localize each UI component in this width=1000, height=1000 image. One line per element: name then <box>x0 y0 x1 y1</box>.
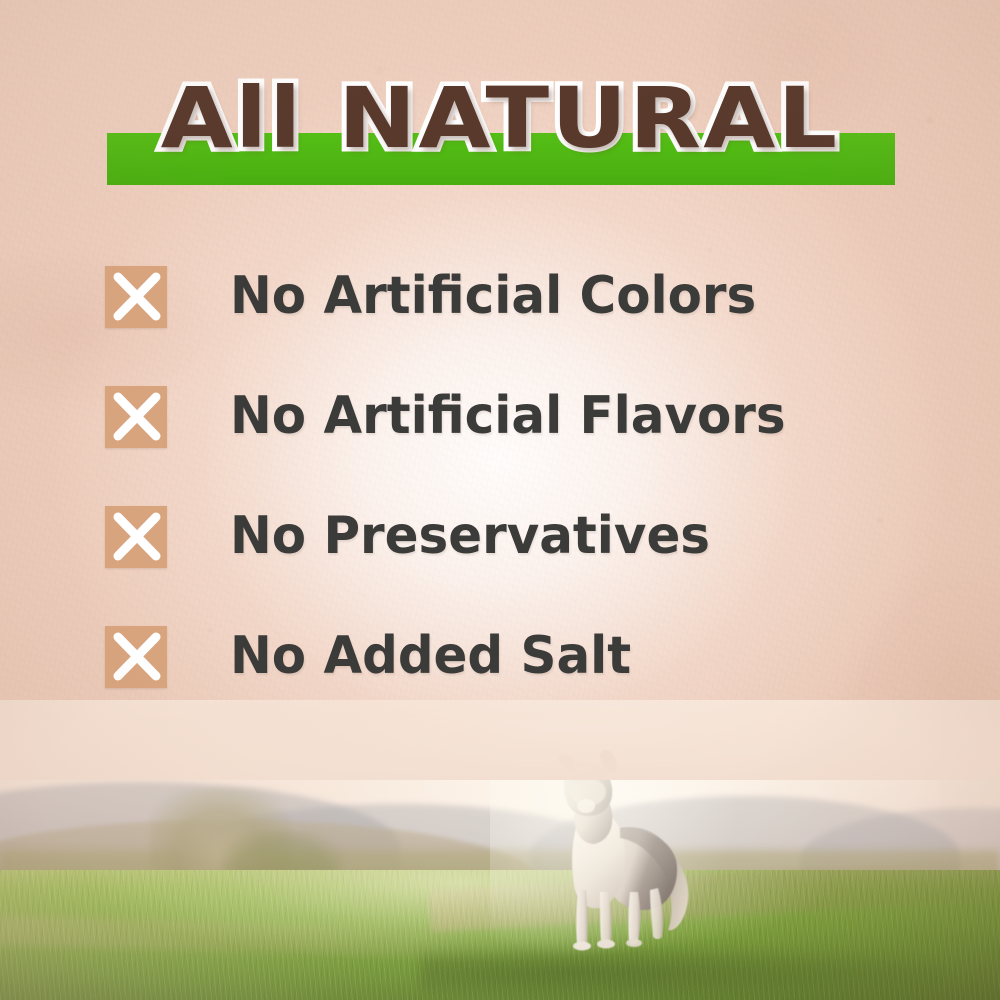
feature-label: No Artificial Flavors <box>230 376 786 456</box>
feature-label: No Preservatives <box>230 496 710 576</box>
list-item: No Artificial Flavors <box>105 382 965 502</box>
x-mark-icon <box>105 266 167 328</box>
hero-banner: All NATURAL <box>0 0 1000 230</box>
list-item: No Added Salt <box>105 622 965 742</box>
feature-label: No Artificial Colors <box>230 256 756 336</box>
x-mark-icon <box>105 386 167 448</box>
product-feature-panel: All NATURAL No Artificial Colors No Arti… <box>0 0 1000 1000</box>
list-item: No Preservatives <box>105 502 965 622</box>
feature-list: No Artificial Colors No Artificial Flavo… <box>105 262 965 742</box>
list-item: No Artificial Colors <box>105 262 965 382</box>
feature-label: No Added Salt <box>230 616 631 696</box>
x-mark-icon <box>105 506 167 568</box>
ground-shadow <box>420 946 940 998</box>
x-mark-icon <box>105 626 167 688</box>
meadow-photo <box>0 700 1000 1000</box>
banner-title: All NATURAL <box>0 76 1000 160</box>
